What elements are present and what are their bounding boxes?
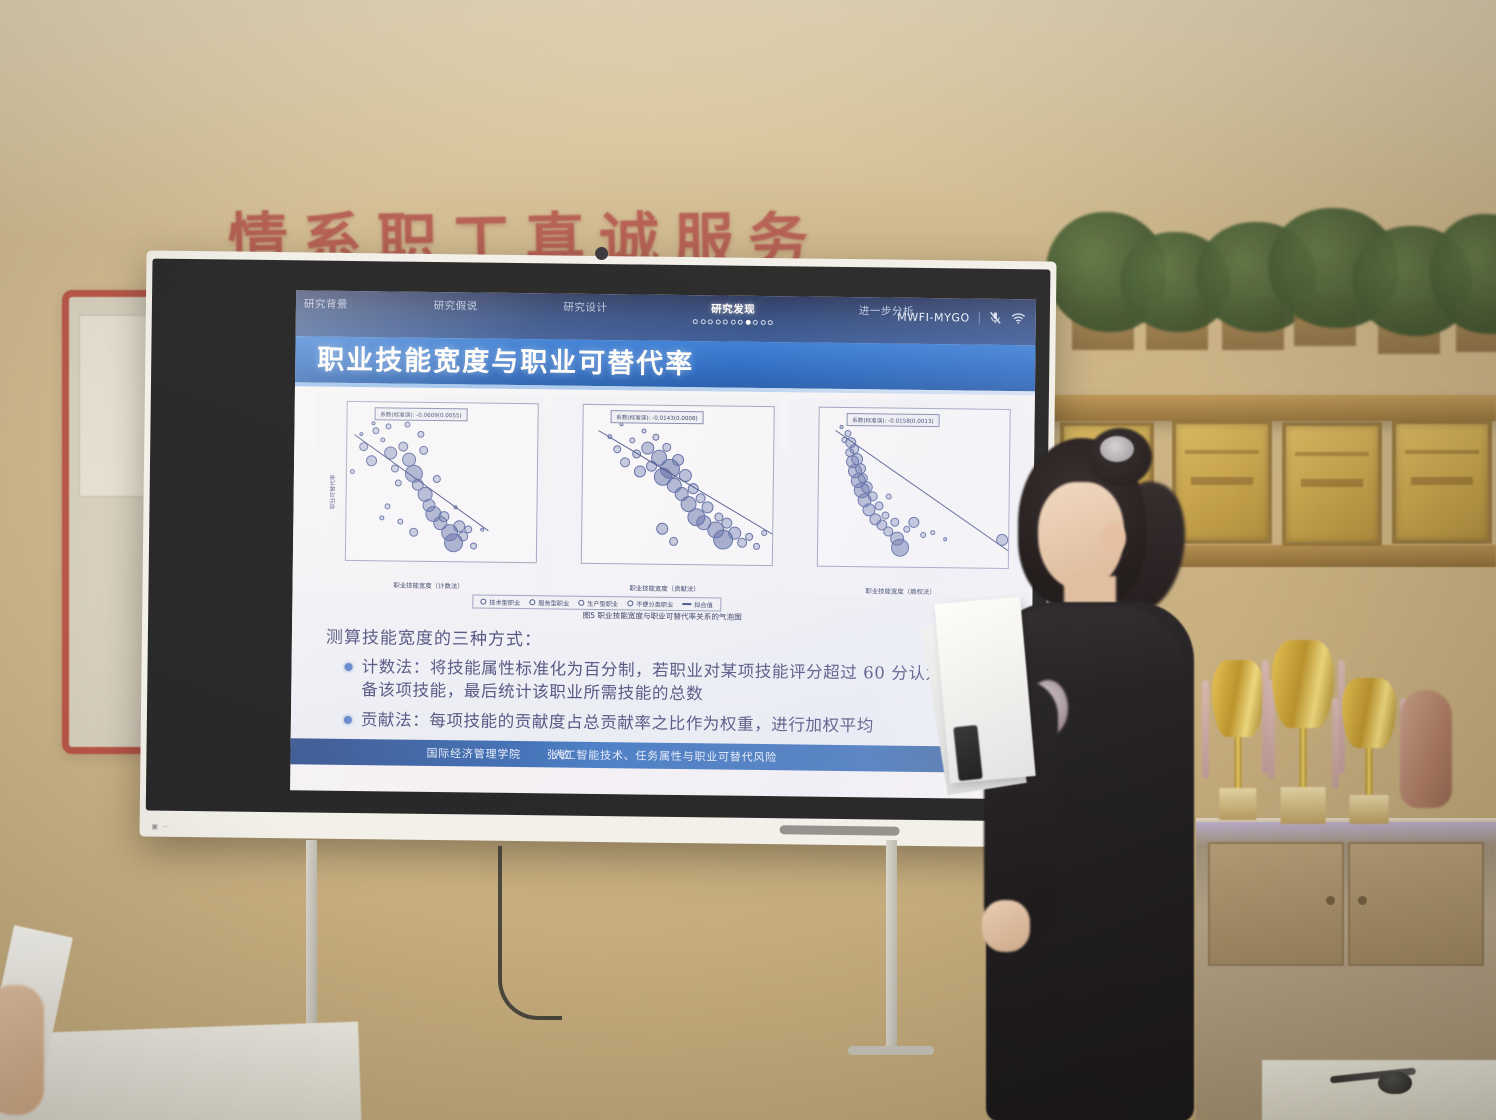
wooden-shelf-upper bbox=[1040, 395, 1496, 421]
x-axis-tick: 0 bbox=[817, 568, 820, 569]
nav-tab-label: 研究背景 bbox=[304, 296, 348, 312]
footer-left: 国际经济管理学院 张敏 bbox=[426, 745, 570, 763]
certificate-plaque bbox=[1282, 422, 1382, 546]
photo-scene: 情 系 职 工 真 诚 服 务 研究背景 bbox=[0, 0, 1496, 1120]
decorative-vase bbox=[1400, 690, 1452, 808]
bubble-point bbox=[630, 437, 636, 443]
trophy-stem bbox=[1235, 737, 1242, 790]
progress-dot[interactable] bbox=[723, 320, 728, 325]
progress-dot[interactable] bbox=[753, 320, 758, 325]
slide-progress-dots bbox=[693, 319, 773, 325]
trophy-cup bbox=[1342, 678, 1396, 748]
display-stand-leg-right bbox=[886, 840, 897, 1050]
bubble-point bbox=[885, 494, 891, 500]
interactive-display[interactable]: 研究背景 研究假说 研究设计 研究发现 进一步分析 bbox=[139, 250, 1056, 847]
plot-area: 系数(标准误): -0.0143(0.0008)0.00.20.40.60.81… bbox=[581, 404, 775, 566]
x-axis-tick: 6 bbox=[398, 563, 402, 564]
bubble-point bbox=[656, 523, 668, 535]
progress-dot[interactable] bbox=[716, 319, 721, 324]
bubble-point bbox=[642, 428, 647, 433]
bubble-point bbox=[379, 515, 384, 520]
y-axis-label: 职业可替代率 bbox=[327, 474, 336, 509]
progress-dot[interactable] bbox=[708, 319, 713, 324]
x-axis-tick: 10 bbox=[846, 568, 853, 569]
slide-content: 系数(标准误): -0.0609(0.0055)0.00.20.40.60.81… bbox=[290, 386, 1035, 773]
bubble-point bbox=[409, 528, 418, 537]
footer-institution: 国际经济管理学院 bbox=[426, 745, 521, 762]
legend-label: 拟合值 bbox=[694, 600, 713, 609]
bubble-point bbox=[419, 446, 428, 455]
bubble-point bbox=[702, 501, 714, 513]
progress-dot[interactable] bbox=[738, 320, 743, 325]
progress-dot[interactable] bbox=[693, 319, 698, 324]
nav-tab-label: 研究设计 bbox=[563, 300, 607, 316]
wifi-ssid-label: MWFI-MYGO bbox=[897, 310, 970, 324]
bubble-point bbox=[359, 432, 363, 436]
presenter-hand bbox=[982, 900, 1030, 952]
display-speaker-grille bbox=[780, 825, 900, 835]
trophy bbox=[1342, 678, 1396, 824]
progress-dot[interactable] bbox=[760, 320, 765, 325]
foreground-table-left bbox=[0, 1022, 362, 1120]
presentation-slide[interactable]: 研究背景 研究假说 研究设计 研究发现 进一步分析 bbox=[290, 290, 1036, 799]
coefficient-annotation: 系数(标准误): -0.0143(0.0008) bbox=[610, 410, 704, 424]
x-axis-label: 职业技能宽度（贡献法） bbox=[550, 582, 778, 594]
bubble-point bbox=[662, 442, 671, 451]
slide-nav-items: 研究背景 研究假说 研究设计 研究发现 进一步分析 bbox=[304, 296, 914, 326]
x-axis-tick: 4 bbox=[371, 562, 375, 563]
bubble-point bbox=[432, 475, 440, 483]
x-axis-tick: 20 bbox=[877, 568, 884, 569]
legend-entry: 服务型职业 bbox=[529, 598, 569, 607]
status-tray: MWFI-MYGO bbox=[897, 310, 1026, 326]
bubble-point bbox=[840, 425, 844, 429]
trophy-ribbon bbox=[1262, 660, 1269, 774]
trophy-base bbox=[1350, 795, 1389, 824]
legend-label: 生产型职业 bbox=[587, 598, 618, 607]
bubble-point bbox=[634, 466, 646, 478]
bubble-point bbox=[874, 502, 883, 511]
bubble-point bbox=[855, 463, 866, 474]
trophy-cup bbox=[1212, 660, 1264, 737]
bubble-point bbox=[372, 427, 379, 434]
bubble-point bbox=[350, 469, 355, 474]
bubble-point bbox=[672, 454, 684, 466]
bubble-point bbox=[930, 530, 935, 535]
presenter-hair-clip bbox=[1100, 436, 1134, 462]
presenter-papers bbox=[934, 597, 1035, 784]
legend-circle-marker bbox=[480, 599, 486, 605]
bubble-point bbox=[745, 532, 753, 540]
display-stand-foot-right bbox=[848, 1046, 934, 1055]
fit-line bbox=[598, 430, 774, 543]
bubble-point bbox=[384, 504, 390, 510]
x-axis-tick: 2 bbox=[345, 562, 348, 563]
nav-tab-label: 研究假说 bbox=[434, 298, 478, 314]
bubble-point bbox=[613, 445, 621, 453]
nav-tab-findings[interactable]: 研究发现 bbox=[693, 301, 773, 325]
trophy-ribbon bbox=[1332, 698, 1339, 789]
wifi-icon[interactable] bbox=[1011, 311, 1026, 325]
plot-area: 系数(标准误): -0.0609(0.0055)0.00.20.40.60.81… bbox=[345, 401, 539, 563]
trophy bbox=[1212, 660, 1264, 820]
legend-circle-marker bbox=[529, 599, 535, 605]
coefficient-annotation: 系数(标准误): -0.0158(0.0013) bbox=[846, 413, 940, 427]
legend-entry: 拟合值 bbox=[682, 600, 713, 609]
bubble-point bbox=[385, 423, 391, 429]
trophy-cup bbox=[1272, 640, 1334, 728]
bubble-point bbox=[943, 537, 947, 541]
prose-lead: 测算技能宽度的三种方式： bbox=[326, 623, 1010, 656]
page-title: 职业技能宽度与职业可替代率 bbox=[317, 346, 694, 378]
presenter-ear bbox=[1102, 522, 1126, 554]
foreground-hand bbox=[0, 985, 44, 1115]
power-cable bbox=[498, 846, 562, 1020]
bubble-point bbox=[417, 431, 424, 438]
bubble-point bbox=[398, 518, 404, 524]
progress-dot[interactable] bbox=[768, 320, 773, 325]
cabinet-door-left[interactable] bbox=[1208, 842, 1344, 966]
bubble-point bbox=[753, 542, 760, 549]
trophy-base bbox=[1219, 788, 1256, 820]
bubble-point bbox=[464, 526, 472, 534]
display-stand-leg-left bbox=[306, 840, 317, 1050]
progress-dot[interactable] bbox=[746, 320, 751, 325]
x-axis-label: 职业技能宽度（计数法） bbox=[314, 580, 542, 592]
display-brand-logo: ▣ ⋯ bbox=[152, 823, 171, 831]
list-item: 计数法：将技能属性标准化为百分制，若职业对某项技能评分超过 60 分认为需要具备… bbox=[361, 655, 1010, 710]
tray-divider bbox=[979, 311, 980, 324]
computer-mouse bbox=[1378, 1072, 1412, 1094]
nav-tab-hypothesis[interactable]: 研究假说 bbox=[434, 298, 478, 322]
display-camera-icon bbox=[595, 247, 608, 260]
legend-entry: 生产型职业 bbox=[578, 598, 618, 607]
bubble-chart-panel-2: 系数(标准误): -0.0143(0.0008)0.00.20.40.60.81… bbox=[550, 395, 780, 596]
coefficient-annotation: 系数(标准误): -0.0609(0.0055) bbox=[374, 407, 468, 421]
legend-circle-marker bbox=[578, 600, 584, 606]
certificate-plaque bbox=[1392, 420, 1492, 544]
trophy-stem bbox=[1300, 728, 1307, 789]
bubble-point bbox=[470, 542, 477, 549]
x-axis-tick: 20 bbox=[581, 565, 586, 566]
nav-tab-background[interactable]: 研究背景 bbox=[304, 296, 348, 320]
legend-label: 服务型职业 bbox=[538, 598, 569, 607]
bubble-point bbox=[366, 455, 377, 466]
legend-label: 不便分类职业 bbox=[636, 599, 673, 608]
footer-paper-title: 人工智能技术、任务属性与职业可替代风险 bbox=[553, 746, 777, 765]
legend-line-marker bbox=[682, 603, 691, 605]
nav-tab-label: 研究发现 bbox=[693, 301, 773, 317]
list-item: 贡献法：每项技能的贡献度占总贡献率之比作为权重，进行加权平均 bbox=[361, 708, 1009, 739]
trophy-stem bbox=[1366, 748, 1373, 796]
bubble-point bbox=[920, 532, 926, 538]
legend-entry: 技术型职业 bbox=[480, 597, 520, 606]
bubble-point bbox=[404, 422, 410, 428]
bubble-point bbox=[395, 480, 402, 487]
display-bezel: 研究背景 研究假说 研究设计 研究发现 进一步分析 bbox=[146, 259, 1051, 822]
progress-dot[interactable] bbox=[701, 319, 706, 324]
bubble-point bbox=[439, 511, 450, 522]
cabinet-knob-right[interactable] bbox=[1358, 896, 1367, 905]
bubble-point bbox=[881, 512, 889, 520]
bubble-point bbox=[380, 438, 385, 443]
bubble-point bbox=[669, 537, 678, 546]
legend-label: 技术型职业 bbox=[489, 597, 520, 606]
progress-dot[interactable] bbox=[731, 320, 736, 325]
bubble-point bbox=[890, 518, 899, 527]
bubble-point bbox=[620, 457, 630, 467]
foreground-table-right bbox=[1262, 1060, 1496, 1120]
trophy-base bbox=[1281, 787, 1326, 824]
legend-entry: 不便分类职业 bbox=[627, 599, 673, 609]
bubble-point bbox=[867, 492, 877, 502]
bubble-point bbox=[908, 517, 919, 528]
bubble-point bbox=[891, 539, 909, 557]
nav-tab-design[interactable]: 研究设计 bbox=[563, 300, 607, 324]
bubble-chart-panel-1: 系数(标准误): -0.0609(0.0055)0.00.20.40.60.81… bbox=[314, 393, 544, 594]
trophy bbox=[1272, 640, 1334, 824]
cabinet-knob-left[interactable] bbox=[1326, 896, 1335, 905]
bubble-point bbox=[652, 434, 659, 441]
presenter bbox=[960, 430, 1210, 1120]
bubble-point bbox=[371, 421, 375, 425]
bubble-point bbox=[398, 442, 408, 452]
x-axis-tick: 30 bbox=[616, 565, 623, 566]
cabinet-door-right[interactable] bbox=[1348, 842, 1484, 966]
bubble-chart-row: 系数(标准误): -0.0609(0.0055)0.00.20.40.60.81… bbox=[314, 393, 1016, 600]
legend-circle-marker bbox=[627, 600, 633, 606]
microphone-muted-icon[interactable] bbox=[989, 311, 1002, 325]
